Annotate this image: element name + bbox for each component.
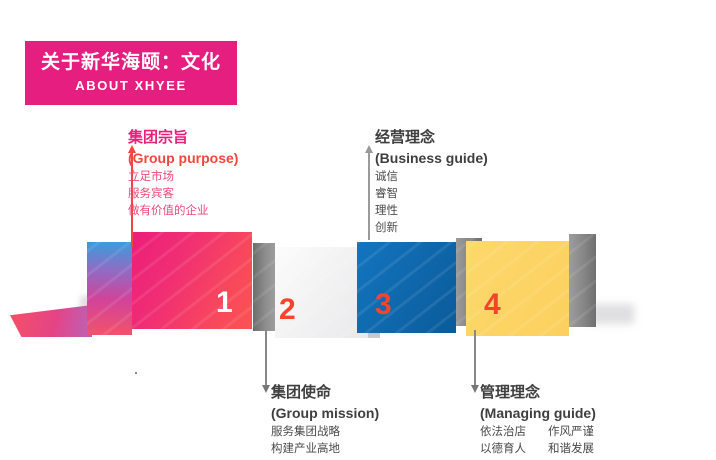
cube-4-front-face	[466, 241, 569, 336]
block-4-heading-cn: 管理理念	[480, 382, 596, 403]
block-4-item-2: 作风严谨	[548, 424, 594, 441]
block-2-item-1: 服务集团战略	[271, 424, 379, 441]
block-3-item-1: 诚信	[375, 169, 488, 186]
block-4-item-1: 依法治店	[480, 424, 526, 441]
cube-2-side-face	[253, 243, 275, 331]
text-block-3: 经营理念 (Business guide) 诚信 睿智 理性 创新	[375, 127, 488, 237]
text-block-4: 管理理念 (Managing guide) 依法治店 作风严谨 以德育人 和谐发…	[474, 382, 596, 458]
block-4-heading-en: (Managing guide)	[480, 403, 596, 424]
cube-2-number: 2	[279, 295, 296, 325]
cube-3-number: 3	[375, 290, 392, 320]
cube-4[interactable]: 4	[466, 234, 596, 336]
block-2-heading-en: (Group mission)	[271, 403, 379, 424]
block-1-item-2: 服务宾客	[128, 186, 238, 203]
slide-canvas: 关于新华海颐：文化 ABOUT XHYEE 1 2 3 4	[0, 0, 716, 460]
block-1-item-3: 做有价值的企业	[128, 203, 238, 220]
cube-1-front-face	[132, 232, 252, 329]
block-3-heading-cn: 经营理念	[375, 127, 488, 148]
cube-3-front-face	[357, 242, 456, 333]
block-1-heading-en: (Group purpose)	[128, 148, 238, 169]
cube-1-number: 1	[216, 288, 233, 318]
cube-2[interactable]: 2	[253, 243, 368, 338]
banner-title-en: ABOUT XHYEE	[75, 77, 187, 95]
block-1-heading-cn: 集团宗旨	[128, 127, 238, 148]
block-3-heading-en: (Business guide)	[375, 148, 488, 169]
cube-4-floor-shadow	[592, 304, 634, 324]
cube-4-number: 4	[484, 290, 501, 320]
decorative-dot	[135, 372, 137, 374]
title-banner: 关于新华海颐：文化 ABOUT XHYEE	[25, 41, 237, 105]
cube-4-side-face	[569, 234, 596, 327]
block-4-item-3: 以德育人	[480, 441, 526, 458]
block-3-item-3: 理性	[375, 203, 488, 220]
banner-title-cn: 关于新华海颐：文化	[41, 51, 221, 75]
cube-1[interactable]: 1	[87, 232, 252, 335]
arrow-up-icon	[365, 145, 373, 153]
connector-line-2	[265, 330, 267, 386]
block-4-item-4: 和谐发展	[548, 441, 594, 458]
block-2-item-2: 构建产业高地	[271, 441, 379, 458]
connector-line-4	[474, 330, 476, 386]
block-3-item-2: 睿智	[375, 186, 488, 203]
connector-line-3	[368, 152, 370, 240]
cube-3[interactable]: 3	[357, 238, 482, 336]
text-block-1: 集团宗旨 (Group purpose) 立足市场 服务宾客 做有价值的企业	[128, 127, 238, 220]
cube-1-side-face	[87, 242, 132, 335]
block-2-heading-cn: 集团使命	[271, 382, 379, 403]
block-3-item-4: 创新	[375, 220, 488, 237]
cube-1-accent-shadow	[10, 305, 92, 337]
block-1-item-1: 立足市场	[128, 169, 238, 186]
text-block-2: 集团使命 (Group mission) 服务集团战略 构建产业高地	[265, 382, 379, 458]
